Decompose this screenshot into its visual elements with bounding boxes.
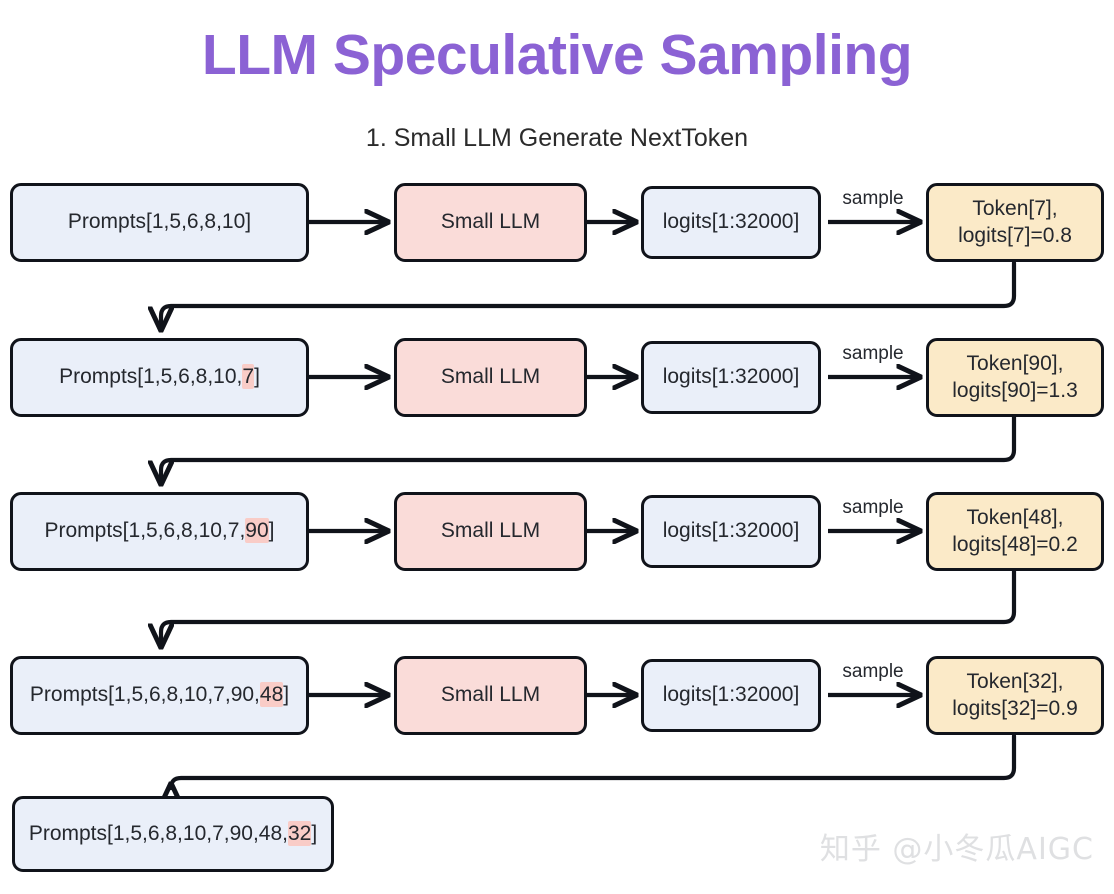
prompt-prefix: Prompts[1,5,6,8,10,7, xyxy=(45,519,246,542)
token-line2-row-3: logits[48]=0.2 xyxy=(952,532,1078,558)
prompt-new-token-highlight: 90 xyxy=(245,518,268,543)
model-label-row-1: Small LLM xyxy=(441,209,540,235)
prompt-suffix: ] xyxy=(254,365,260,388)
prompt-text-row-2: Prompts[1,5,6,8,10,7] xyxy=(59,364,260,390)
token-box-row-4[interactable]: Token[32], logits[32]=0.9 xyxy=(926,656,1104,735)
model-box-row-3[interactable]: Small LLM xyxy=(394,492,587,571)
logits-box-row-3[interactable]: logits[1:32000] xyxy=(641,495,821,568)
model-box-row-1[interactable]: Small LLM xyxy=(394,183,587,262)
logits-label-row-4: logits[1:32000] xyxy=(663,682,800,708)
token-line1-row-1: Token[7], xyxy=(972,196,1057,222)
prompt-text-row-3: Prompts[1,5,6,8,10,7,90] xyxy=(45,518,275,544)
prompt-suffix: ] xyxy=(283,683,289,706)
prompt-new-token-highlight: 32 xyxy=(288,821,311,846)
model-label-row-3: Small LLM xyxy=(441,518,540,544)
prompt-prefix: Prompts[1,5,6,8,10,7,90, xyxy=(30,683,260,706)
prompt-new-token-highlight: 48 xyxy=(260,682,283,707)
token-line2-row-2: logits[90]=1.3 xyxy=(952,378,1078,404)
token-line1-row-2: Token[90], xyxy=(967,351,1064,377)
prompt-box-row-1[interactable]: Prompts[1,5,6,8,10] xyxy=(10,183,309,262)
sample-label-row-2: sample xyxy=(829,343,917,365)
prompt-box-final[interactable]: Prompts[1,5,6,8,10,7,90,48,32] xyxy=(12,796,334,872)
prompt-text-final: Prompts[1,5,6,8,10,7,90,48,32] xyxy=(29,821,317,847)
prompt-text-row-1: Prompts[1,5,6,8,10] xyxy=(68,209,251,235)
token-line1-row-3: Token[48], xyxy=(967,505,1064,531)
prompt-suffix: ] xyxy=(269,519,275,542)
prompt-box-row-3[interactable]: Prompts[1,5,6,8,10,7,90] xyxy=(10,492,309,571)
model-label-row-4: Small LLM xyxy=(441,682,540,708)
model-label-row-2: Small LLM xyxy=(441,364,540,390)
token-box-row-3[interactable]: Token[48], logits[48]=0.2 xyxy=(926,492,1104,571)
prompt-prefix: Prompts[1,5,6,8,10, xyxy=(59,365,242,388)
sample-label-row-4: sample xyxy=(829,661,917,683)
prompt-text-row-4: Prompts[1,5,6,8,10,7,90,48] xyxy=(30,682,289,708)
speculative-sampling-flow-diagram: Prompts[1,5,6,8,10] Small LLM logits[1:3… xyxy=(0,0,1114,894)
prompt-new-token-highlight: 7 xyxy=(242,364,254,389)
token-line1-row-4: Token[32], xyxy=(967,669,1064,695)
logits-box-row-4[interactable]: logits[1:32000] xyxy=(641,659,821,732)
logits-label-row-3: logits[1:32000] xyxy=(663,518,800,544)
token-box-row-2[interactable]: Token[90], logits[90]=1.3 xyxy=(926,338,1104,417)
flow-connectors xyxy=(0,0,1114,894)
model-box-row-2[interactable]: Small LLM xyxy=(394,338,587,417)
prompt-prefix: Prompts[1,5,6,8,10,7,90,48, xyxy=(29,822,288,845)
watermark: 知乎 @小冬瓜AIGC xyxy=(820,824,1094,868)
token-line2-row-1: logits[7]=0.8 xyxy=(958,223,1072,249)
logits-box-row-1[interactable]: logits[1:32000] xyxy=(641,186,821,259)
token-box-row-1[interactable]: Token[7], logits[7]=0.8 xyxy=(926,183,1104,262)
sample-label-row-3: sample xyxy=(829,497,917,519)
prompt-box-row-4[interactable]: Prompts[1,5,6,8,10,7,90,48] xyxy=(10,656,309,735)
model-box-row-4[interactable]: Small LLM xyxy=(394,656,587,735)
sample-label-row-1: sample xyxy=(829,188,917,210)
prompt-prefix: Prompts[1,5,6,8,10] xyxy=(68,210,251,233)
logits-label-row-2: logits[1:32000] xyxy=(663,364,800,390)
prompt-box-row-2[interactable]: Prompts[1,5,6,8,10,7] xyxy=(10,338,309,417)
prompt-suffix: ] xyxy=(311,822,317,845)
logits-box-row-2[interactable]: logits[1:32000] xyxy=(641,341,821,414)
token-line2-row-4: logits[32]=0.9 xyxy=(952,696,1078,722)
logits-label-row-1: logits[1:32000] xyxy=(663,209,800,235)
